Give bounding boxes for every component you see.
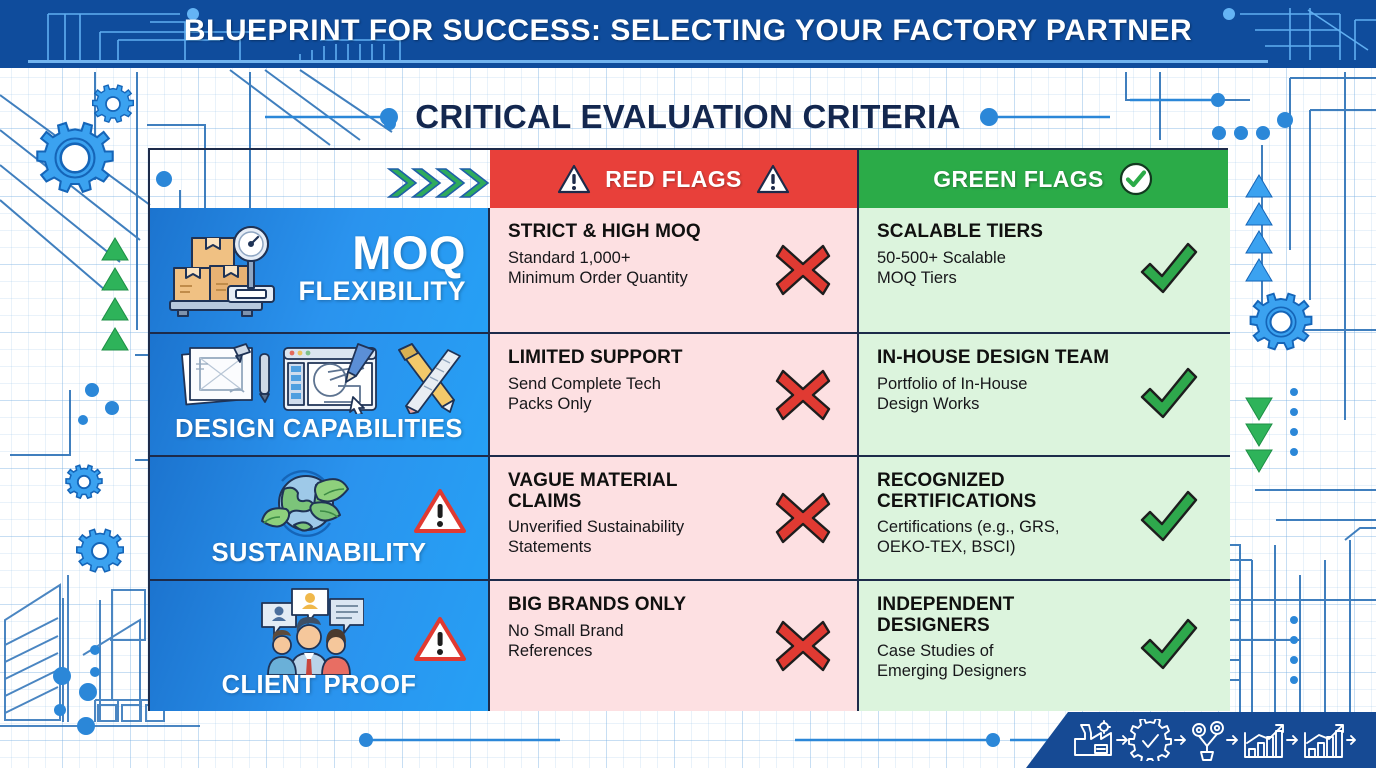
red-flag-title: STRICT & HIGH MOQ	[508, 222, 758, 243]
column-header-green-flags: GREEN FLAGS	[859, 150, 1228, 208]
green-flag-subtitle: Case Studies of Emerging Designers	[877, 641, 1127, 681]
red-flag-title: BIG BRANDS ONLY	[508, 595, 758, 616]
table-header-row: RED FLAGS GREEN FLAGS	[490, 150, 1228, 208]
arrow-right-icon	[1227, 736, 1237, 744]
green-check-icon	[1136, 238, 1200, 302]
red-flag-title: VAGUE MATERIAL CLAIMS	[508, 471, 698, 512]
criteria-cell-moq-flexibility: MOQ FLEXIBILITY	[150, 208, 490, 334]
criteria-cell-sustainability: SUSTAINABILITY	[150, 457, 490, 581]
green-flag-cell-moq: SCALABLE TIERS 50-500+ Scalable MOQ Tier…	[859, 208, 1230, 334]
criteria-cell-client-proof: CLIENT PROOF	[150, 581, 490, 711]
green-flag-cell-design: IN-HOUSE DESIGN TEAM Portfolio of In-Hou…	[859, 334, 1230, 457]
green-check-icon	[1136, 363, 1200, 427]
factory-icon	[1075, 721, 1111, 755]
green-flag-subtitle: Certifications (e.g., GRS, OEKO-TEX, BSC…	[877, 517, 1127, 557]
infographic-canvas: BLUEPRINT FOR SUCCESS: SELECTING YOUR FA…	[0, 0, 1376, 768]
red-flag-cell-sustainability: VAGUE MATERIAL CLAIMS Unverified Sustain…	[490, 457, 859, 581]
arrow-right-icon	[1347, 736, 1355, 744]
green-flag-title: RECOGNIZED CERTIFICATIONS	[877, 471, 1077, 512]
green-flag-title: SCALABLE TIERS	[877, 222, 1127, 243]
red-flag-subtitle: Unverified Sustainability Statements	[508, 517, 758, 557]
warning-triangle-icon	[756, 163, 790, 195]
criteria-subtitle: SUSTAINABILITY	[150, 539, 488, 568]
green-flag-cell-client-proof: INDEPENDENT DESIGNERS Case Studies of Em…	[859, 581, 1230, 711]
red-cross-icon	[771, 486, 835, 550]
warning-triangle-icon	[557, 163, 591, 195]
red-cross-icon	[771, 363, 835, 427]
process-flow-banner	[1026, 712, 1376, 768]
arrow-right-icon	[1175, 736, 1185, 744]
table-row: MOQ FLEXIBILITY STRICT & HIGH MOQ Standa…	[150, 208, 1230, 334]
red-flag-cell-design: LIMITED SUPPORT Send Complete Tech Packs…	[490, 334, 859, 457]
column-header-red-flags-label: RED FLAGS	[605, 166, 742, 193]
red-flag-subtitle: No Small Brand References	[508, 621, 763, 661]
check-circle-icon	[1118, 161, 1154, 197]
criteria-cell-design-capabilities: DESIGN CAPABILITIES	[150, 334, 490, 457]
warning-triangle-icon	[412, 487, 468, 537]
section-title-row: CRITICAL EVALUATION CRITERIA	[0, 88, 1376, 146]
red-cross-icon	[771, 614, 835, 678]
red-flag-subtitle: Standard 1,000+ Minimum Order Quantity	[508, 248, 763, 288]
bar-chart-icon	[1245, 725, 1283, 757]
criteria-subtitle: CLIENT PROOF	[150, 671, 488, 700]
red-flag-subtitle: Send Complete Tech Packs Only	[508, 374, 763, 414]
evaluation-criteria-table: RED FLAGS GREEN FLAGS	[148, 148, 1228, 711]
bar-chart-icon	[1305, 725, 1343, 757]
boxes-scale-icon	[166, 226, 296, 318]
criteria-title: MOQ	[352, 229, 466, 276]
green-check-icon	[1136, 614, 1200, 678]
section-title-connectors	[0, 88, 1376, 146]
green-flag-cell-sustainability: RECOGNIZED CERTIFICATIONS Certifications…	[859, 457, 1230, 581]
red-cross-icon	[771, 238, 835, 302]
green-flag-title: INDEPENDENT DESIGNERS	[877, 595, 1062, 636]
criteria-subtitle: DESIGN CAPABILITIES	[150, 415, 488, 444]
bottom-decoration-strip	[0, 708, 1376, 768]
warning-triangle-icon	[412, 615, 468, 665]
red-flag-title: LIMITED SUPPORT	[508, 348, 758, 369]
red-flag-cell-moq: STRICT & HIGH MOQ Standard 1,000+ Minimu…	[490, 208, 859, 334]
page-title: BLUEPRINT FOR SUCCESS: SELECTING YOUR FA…	[0, 0, 1376, 62]
table-row: DESIGN CAPABILITIES LIMITED SUPPORT Send…	[150, 334, 1230, 457]
red-flag-cell-client-proof: BIG BRANDS ONLY No Small Brand Reference…	[490, 581, 859, 711]
arrow-right-icon	[1117, 736, 1127, 744]
column-header-green-flags-label: GREEN FLAGS	[933, 166, 1104, 193]
robot-arm-icon	[1193, 722, 1223, 760]
green-flag-subtitle: Portfolio of In-House Design Works	[877, 374, 1132, 414]
table-row: CLIENT PROOF BIG BRANDS ONLY No Small Br…	[150, 581, 1230, 711]
table-row: SUSTAINABILITY VAGUE MATERIAL CLAIMS Unv…	[150, 457, 1230, 581]
gear-check-icon	[1129, 719, 1171, 761]
column-header-red-flags: RED FLAGS	[490, 150, 859, 208]
header-banner: BLUEPRINT FOR SUCCESS: SELECTING YOUR FA…	[0, 0, 1376, 68]
green-flag-title: IN-HOUSE DESIGN TEAM	[877, 348, 1147, 369]
people-testimonial-icon	[254, 587, 364, 675]
criteria-subtitle: FLEXIBILITY	[299, 278, 467, 305]
green-check-icon	[1136, 486, 1200, 550]
globe-leaves-icon	[258, 463, 354, 543]
design-tools-icon	[178, 342, 468, 414]
green-flag-subtitle: 50-500+ Scalable MOQ Tiers	[877, 248, 1132, 288]
process-flow-icons	[1071, 719, 1371, 761]
arrow-right-icon	[1287, 736, 1297, 744]
